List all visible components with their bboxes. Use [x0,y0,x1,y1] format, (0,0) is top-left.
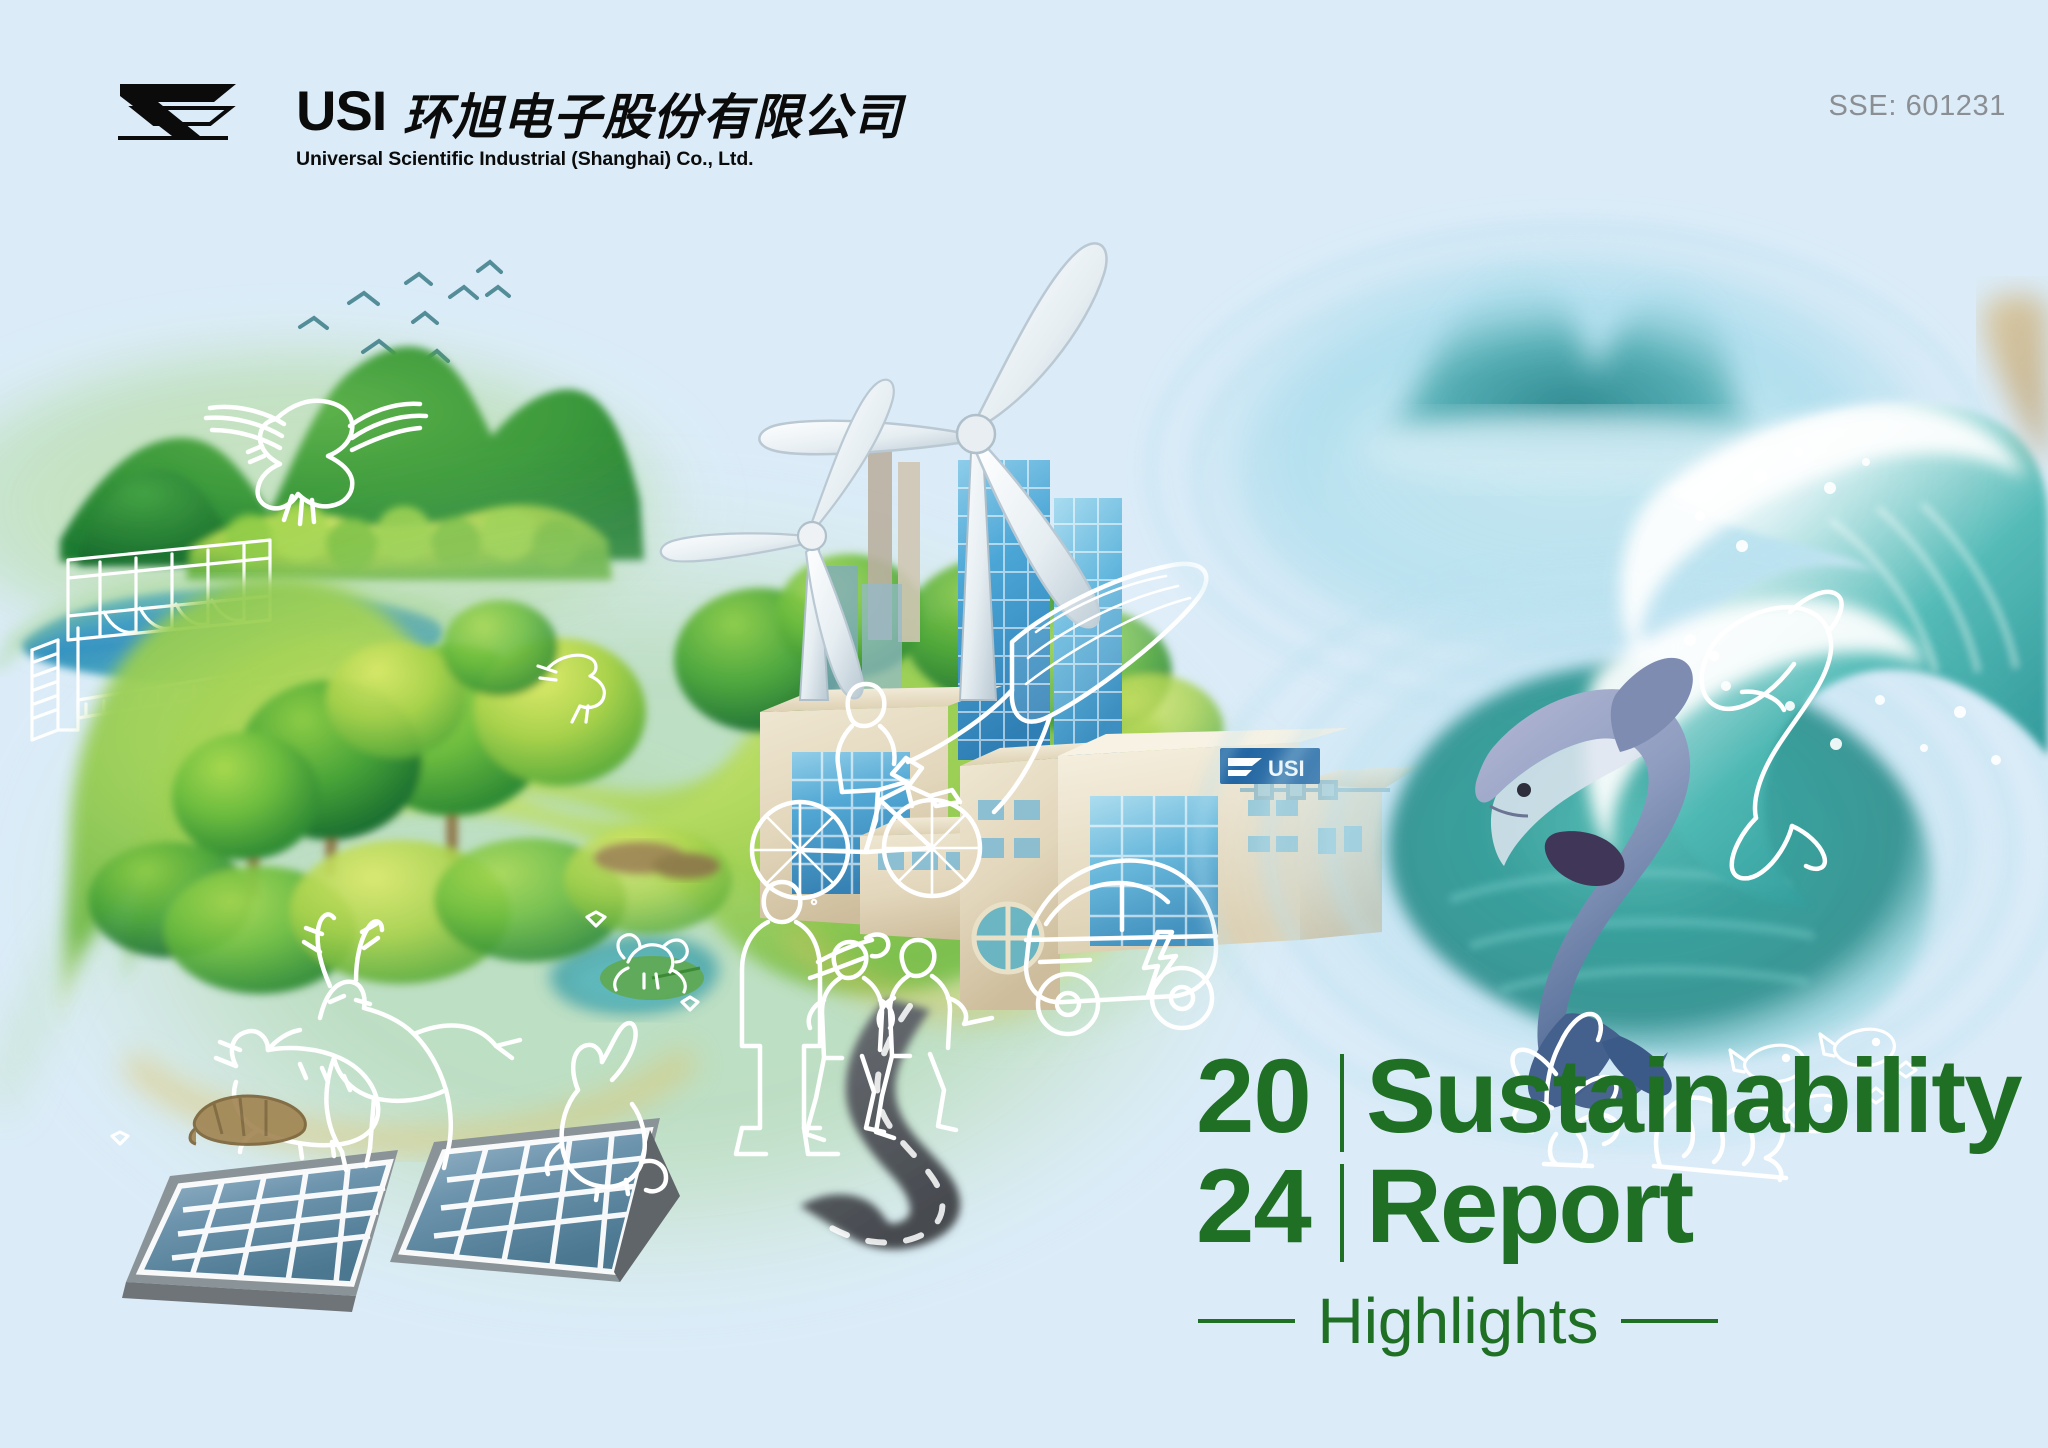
title-word-report: Report [1366,1158,1692,1257]
usi-wordmark: USI [296,78,386,143]
sandy-shore [1983,294,2048,470]
dolphin-line-art [1702,592,1842,878]
solar-collector-line-art [892,564,1206,812]
flying-birds-flock [300,262,509,361]
butterflies [112,912,698,1144]
electric-car-line-art [1026,861,1216,1034]
dam-bridge-line-art [32,540,326,740]
title-divider-1 [1340,1054,1344,1152]
eagle-line-art [206,401,426,524]
subtitle-highlights: Highlights [1317,1284,1598,1358]
breaking-wave [1654,403,2048,906]
usi-logo-mark [118,78,286,140]
child-running-2 [876,940,992,1138]
rabbit [547,1023,666,1200]
turtle [190,1096,305,1144]
solar-panel-right [390,1118,680,1282]
title-divider-2 [1340,1164,1344,1262]
deer-standing [304,914,520,1170]
subtitle-dash-left [1198,1319,1295,1323]
title-word-sustainability: Sustainability [1366,1048,2021,1147]
cover-header: USI 环旭电子股份有限公司 Universal Scientific Indu… [0,0,2048,190]
green-mountains [60,346,644,562]
company-name-en: Universal Scientific Industrial (Shangha… [296,148,902,171]
winding-road [800,998,960,1249]
wildlife-line-art [112,655,704,1200]
deer-lying [216,1030,378,1158]
year-top: 20 [1196,1048,1336,1147]
report-cover: USI [0,0,2048,1448]
pond [550,935,719,1015]
people-line-art [736,684,992,1154]
misty-mountain-island [1390,269,1752,444]
company-name-cn: 环旭电子股份有限公司 [402,93,902,143]
blue-lake [22,589,443,684]
cover-title-block: 20 Sustainability 24 Report Highlights [1196,1048,2026,1358]
trees [88,554,1224,994]
usi-logo[interactable]: USI 环旭电子股份有限公司 Universal Scientific Indu… [118,78,902,171]
bird-line-art [538,655,604,722]
svg-text:USI: USI [1268,756,1305,781]
child-running-1 [806,942,893,1140]
title-line-2: 24 Report [1196,1158,2026,1262]
ocean-water [1389,664,1933,1059]
ocean-scene [1150,226,2048,1180]
wind-turbine-small [661,380,894,700]
stock-listing-label: SSE: 601231 [1828,90,2006,123]
title-line-1: 20 Sustainability [1196,1048,2026,1152]
solar-panel-left [122,1150,398,1312]
mountain-lake-scene [0,262,730,740]
year-bottom: 24 [1196,1158,1336,1257]
subtitle-dash-right [1621,1319,1718,1323]
cyclist-line-art [752,684,980,903]
wind-turbine-large [759,243,1106,700]
subtitle-highlights-row: Highlights [1198,1284,1718,1358]
frog-on-lilypad [600,935,704,1000]
adult-flying-kite [736,882,888,1154]
usi-sign-on-building: USI [1220,748,1320,784]
